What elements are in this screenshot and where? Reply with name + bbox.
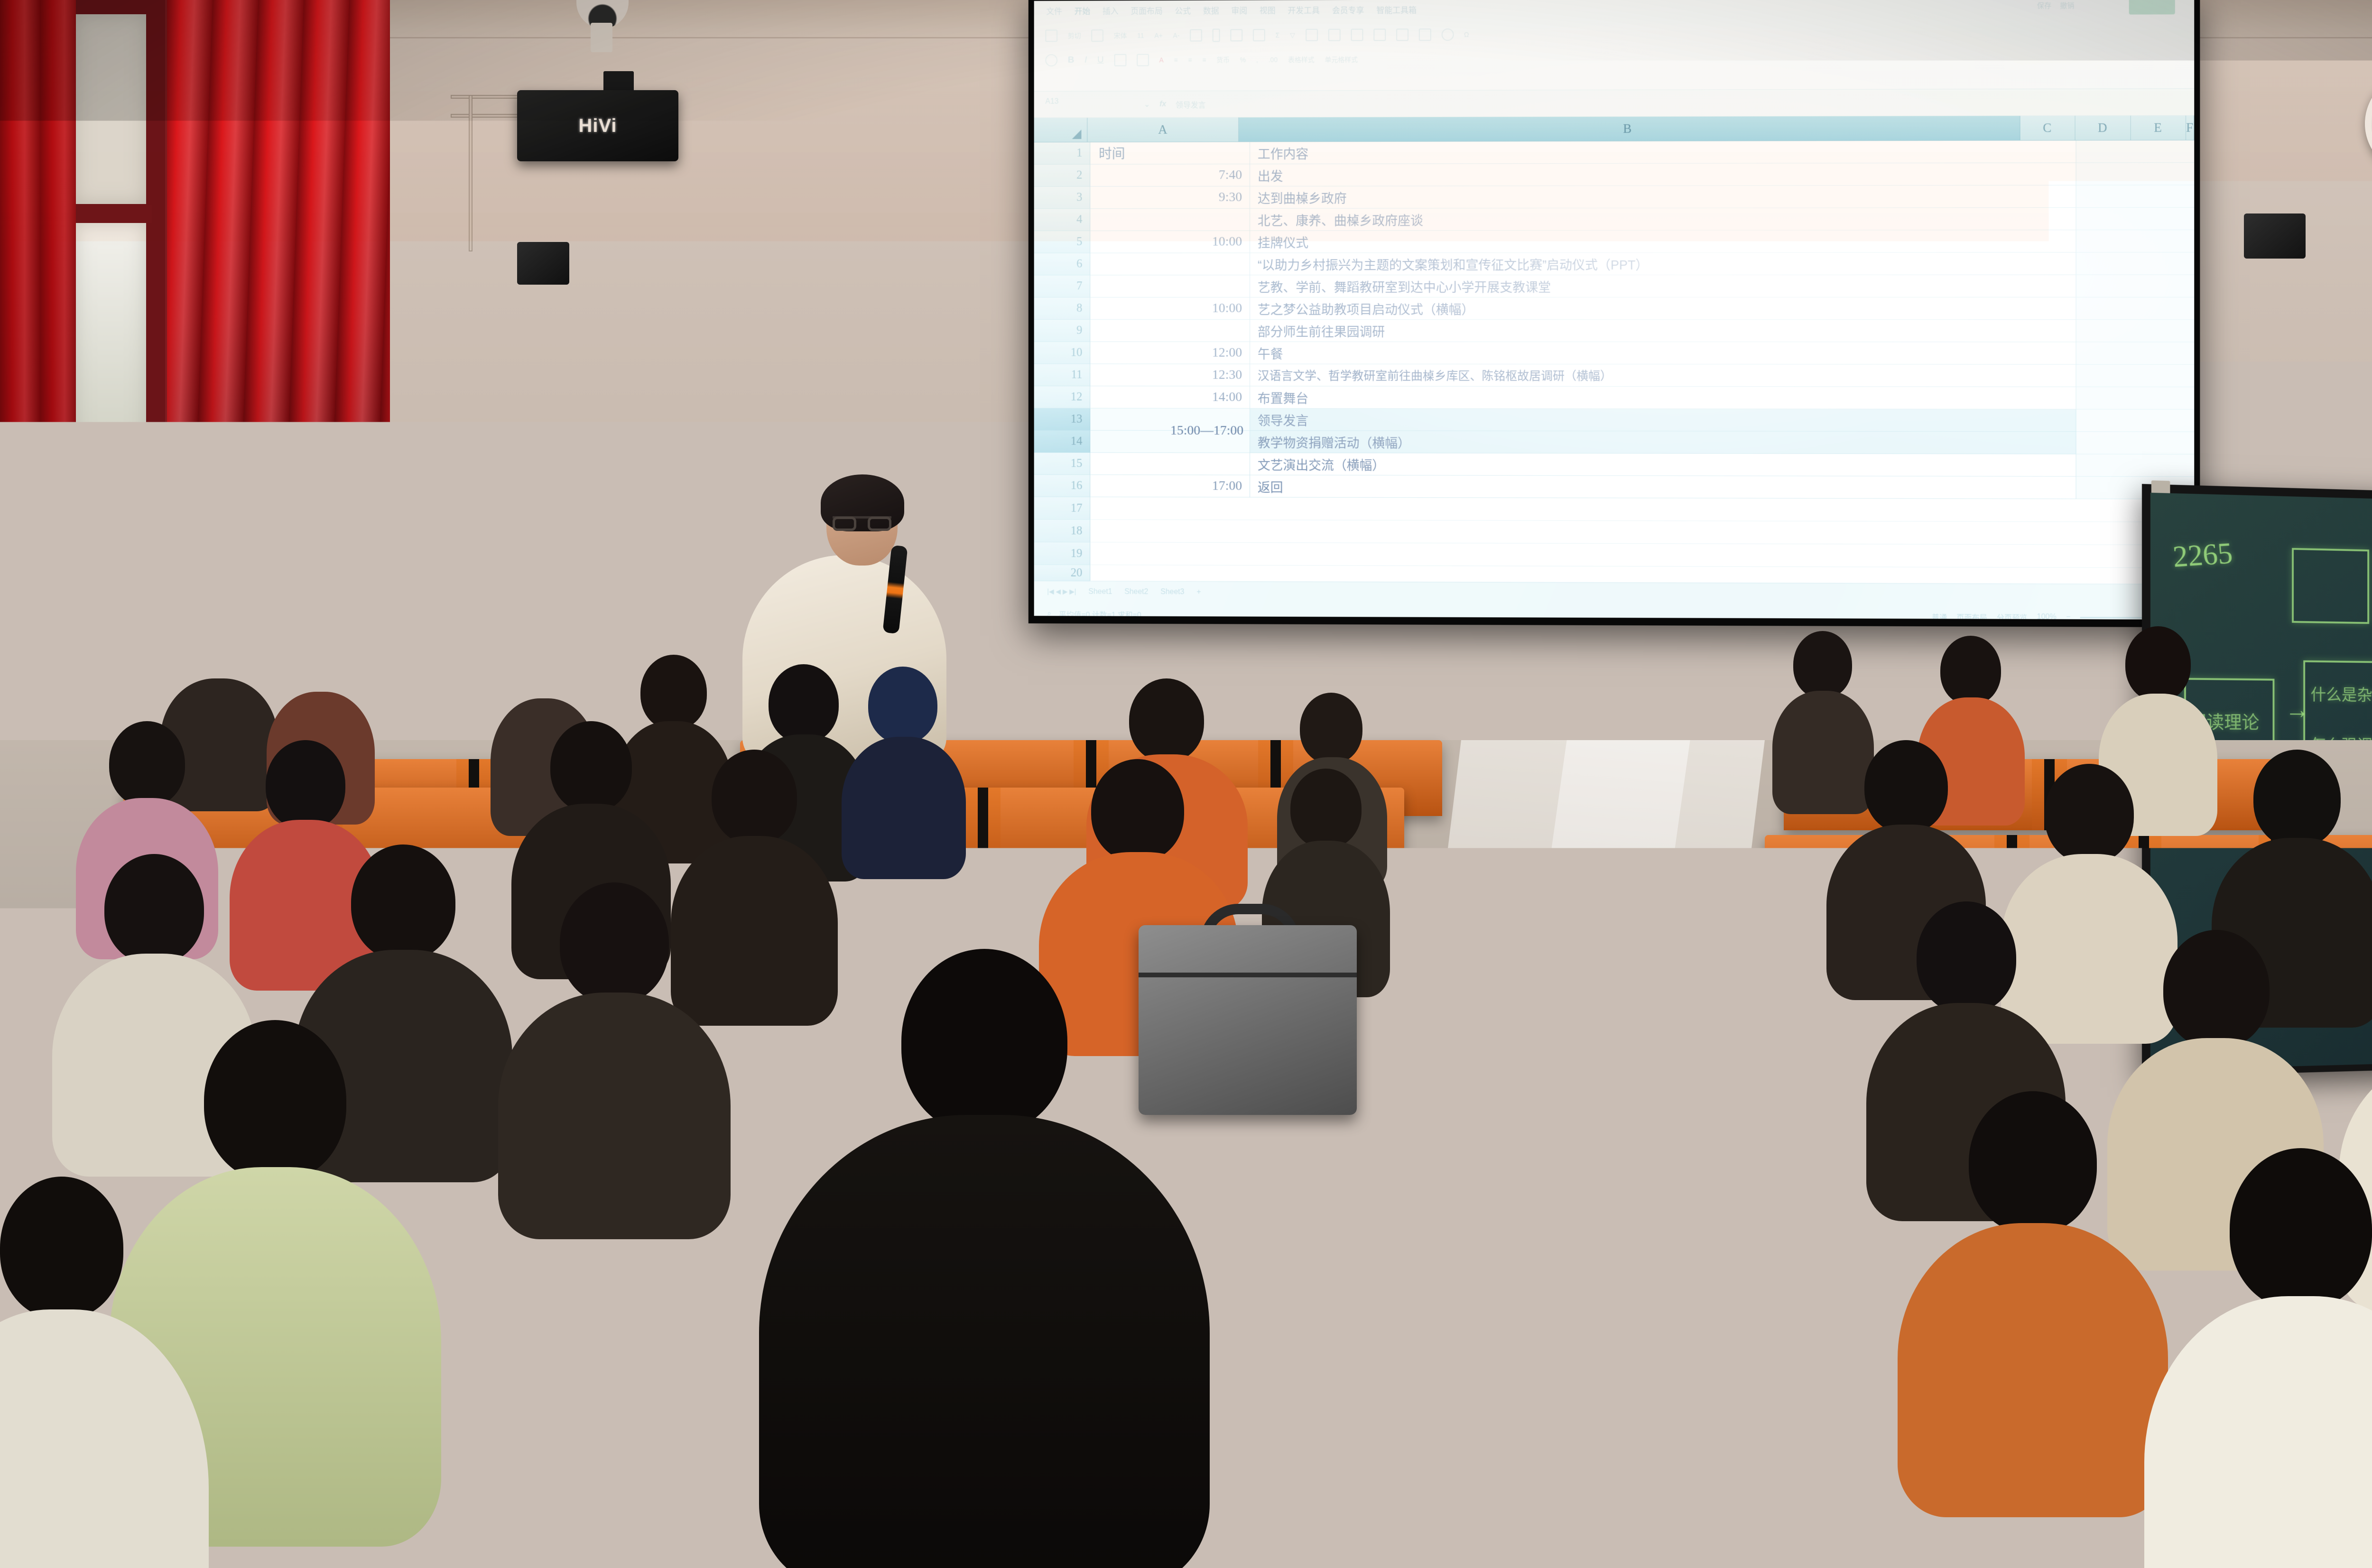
row-header[interactable]: 17: [1034, 497, 1091, 520]
chalk-numbers: 2265: [2171, 536, 2233, 575]
status-search-icon[interactable]: ⌕: [1047, 610, 1051, 618]
name-box[interactable]: A13: [1045, 97, 1134, 111]
ribbon-body: 剪切 宋体 11 A+ A- Σ ▽: [1034, 16, 2195, 92]
column-header-d[interactable]: D: [2075, 116, 2131, 140]
row-header[interactable]: 11: [1034, 364, 1091, 386]
cell-b15[interactable]: 文艺演出交流（横幅）: [1250, 453, 2076, 477]
student-head: [1940, 636, 2001, 705]
student-head: [2230, 1148, 2372, 1309]
student-head: [1917, 901, 2016, 1013]
student-head: [512, 636, 574, 707]
row-header[interactable]: 12: [1034, 386, 1091, 408]
cell-b4[interactable]: 北艺、康养、曲槕乡政府座谈: [1250, 208, 2076, 231]
student-head: [2253, 750, 2341, 847]
font-color-icon[interactable]: A: [1159, 56, 1163, 64]
projection-screen: 文件 开始 插入 页面布局 公式 数据 审阅 视图 开发工具 会员专享 智能工具…: [1028, 0, 2200, 627]
row-header-selected[interactable]: 14: [1034, 430, 1091, 453]
spreadsheet-grid[interactable]: 1 时间 工作内容 2 7:40 出发 3 9:30 达到曲槕乡政府 4 北艺: [1034, 140, 2195, 585]
chevron-down-icon[interactable]: ⌄: [1144, 100, 1150, 109]
table-row-selected[interactable]: 14 教学物资捐赠活动（横幅）: [1034, 430, 2195, 454]
student-head: [1969, 1091, 2097, 1234]
row-header[interactable]: 2: [1034, 165, 1091, 187]
cell-b12[interactable]: 布置舞台: [1250, 386, 2076, 409]
sheet-tab-2[interactable]: Sheet2: [1124, 587, 1148, 596]
cell-blank[interactable]: [2076, 163, 2195, 186]
corner-triangle-icon: [1072, 130, 1082, 139]
ribbon-tab-insert[interactable]: 插入: [1103, 4, 1119, 16]
row-header[interactable]: 20: [1034, 565, 1091, 581]
borders-icon[interactable]: [1114, 54, 1126, 66]
student-head: [901, 949, 1067, 1134]
column-header-a[interactable]: A: [1088, 118, 1239, 142]
sheet-tab-1[interactable]: Sheet1: [1088, 587, 1112, 596]
cell-blank[interactable]: [1090, 542, 2194, 568]
filter-icon[interactable]: ▽: [1290, 31, 1295, 39]
ribbon-tab-file[interactable]: 文件: [1046, 4, 1062, 16]
cell-a3[interactable]: 9:30: [1090, 186, 1250, 209]
ribbon-tab-home[interactable]: 开始: [1075, 4, 1091, 16]
sign-in-button[interactable]: [2129, 0, 2175, 15]
camera-bag: [1139, 925, 1357, 1115]
table-row[interactable]: 8 10:00 艺之梦公益助教项目启动仪式（横幅）: [1034, 297, 2195, 320]
cell-blank[interactable]: [2076, 320, 2195, 342]
cell-a6[interactable]: [1090, 253, 1250, 275]
student-head: [204, 1020, 346, 1181]
row-header[interactable]: 7: [1034, 275, 1091, 297]
cell-a5[interactable]: 10:00: [1090, 231, 1250, 253]
student-head: [1091, 759, 1184, 862]
cell-a7[interactable]: [1090, 275, 1250, 297]
column-header-b[interactable]: B: [1239, 116, 2020, 141]
student-head: [769, 664, 839, 743]
student-head: [1793, 631, 1852, 698]
freeze-panes-icon[interactable]: [1418, 28, 1431, 41]
comma-icon[interactable]: ,: [1256, 56, 1258, 64]
cell-blank[interactable]: [2076, 230, 2195, 252]
table-row[interactable]: 16 17:00 返回: [1034, 475, 2195, 500]
cell-blank[interactable]: [2076, 432, 2195, 455]
row-header[interactable]: 18: [1034, 520, 1091, 542]
table-row[interactable]: 7 艺教、学前、舞蹈教研室到达中心小学开展支教课堂: [1034, 275, 2195, 298]
cell-blank[interactable]: [2076, 275, 2195, 297]
cell-a4[interactable]: [1090, 209, 1250, 231]
window-pane-middle: [75, 223, 146, 697]
student-head: [1290, 769, 1362, 848]
cell-a1[interactable]: 时间: [1090, 142, 1250, 164]
sheet-tab-bar[interactable]: |◀ ◀ ▶ ▶| Sheet1 Sheet2 Sheet3 +: [1034, 581, 2195, 605]
zoom-out-icon[interactable]: −: [2066, 613, 2070, 620]
cell-b8[interactable]: 艺之梦公益助教项目启动仪式（横幅）: [1250, 297, 2076, 320]
row-header[interactable]: 5: [1034, 231, 1091, 253]
cell-a15[interactable]: [1090, 453, 1250, 475]
cell-blank[interactable]: [2076, 297, 2195, 320]
currency-icon[interactable]: 货币: [1216, 55, 1230, 65]
ribbon-tab-formula[interactable]: 公式: [1175, 4, 1191, 16]
cell-blank[interactable]: [2076, 185, 2195, 208]
cell-b9[interactable]: 部分师生前往果园调研: [1250, 320, 2076, 342]
cell-a16[interactable]: 17:00: [1090, 475, 1250, 497]
student-head: [2125, 626, 2191, 701]
camera-mount: [591, 23, 612, 52]
formula-bar[interactable]: A13 ⌄ fx 领导发言: [1034, 89, 2195, 118]
table-row[interactable]: 11 12:30 汉语言文学、哲学教研室前往曲槕乡库区、陈铭枢故居调研（横幅）: [1034, 364, 2195, 387]
table-row[interactable]: 5 10:00 挂牌仪式: [1034, 230, 2195, 253]
cell-b1[interactable]: 工作内容: [1250, 140, 2076, 164]
qa-save-icon[interactable]: 保存: [2037, 0, 2051, 10]
fill-icon[interactable]: [1396, 28, 1408, 41]
cell-a10[interactable]: 12:00: [1090, 342, 1250, 364]
cell-a12[interactable]: 14:00: [1090, 386, 1250, 408]
format-painter-icon[interactable]: [1091, 29, 1103, 42]
align-center-icon[interactable]: ≡: [1188, 56, 1192, 64]
student-head: [109, 721, 185, 807]
row-header[interactable]: 4: [1034, 209, 1091, 231]
sort-icon[interactable]: [1306, 29, 1318, 41]
ribbon-tab-data[interactable]: 数据: [1203, 4, 1219, 16]
ribbon-row-top: 剪切 宋体 11 A+ A- Σ ▽: [1045, 20, 2183, 48]
row-header[interactable]: 9: [1034, 320, 1091, 342]
student-head: [1129, 678, 1204, 762]
view-page-layout-button[interactable]: 页面布局: [1956, 611, 1987, 620]
column-header-row[interactable]: A B C D E F: [1034, 116, 2195, 143]
ribbon-tab-layout[interactable]: 页面布局: [1130, 4, 1162, 16]
curtain-left: [0, 0, 76, 769]
zoom-level-label: 100%: [2037, 613, 2057, 620]
row-header[interactable]: 8: [1034, 297, 1091, 320]
classroom-scene: HiVi HiVi 12 1 2 3 4 5 6 7 8 9 10 11: [0, 0, 2372, 1568]
cell-style-label[interactable]: 单元格样式: [1325, 55, 1358, 64]
student-head: [2045, 764, 2134, 863]
rows-cols-icon[interactable]: [1328, 29, 1340, 41]
student-head: [560, 882, 669, 1004]
align-right-icon[interactable]: ≡: [1202, 56, 1206, 64]
cell-a2[interactable]: 7:40: [1090, 164, 1250, 186]
student-body: [1898, 1223, 2168, 1517]
student-body: [1772, 691, 1874, 814]
cut-label[interactable]: 剪切: [1068, 31, 1081, 40]
format-icon[interactable]: [1373, 28, 1386, 41]
wrap-text-icon[interactable]: [1213, 28, 1220, 42]
font-name-label[interactable]: 宋体: [1114, 31, 1127, 40]
font-size-label[interactable]: 11: [1137, 32, 1144, 39]
projector-mount-right: [2244, 213, 2306, 259]
view-normal-button[interactable]: 普通: [1932, 611, 1947, 620]
table-row-selected[interactable]: 13 领导发言: [1034, 408, 2195, 432]
autosum-icon[interactable]: Σ: [1276, 31, 1280, 39]
column-header-f[interactable]: F: [2186, 116, 2194, 140]
cell-blank[interactable]: [2076, 454, 2195, 477]
copy-icon[interactable]: [1045, 54, 1057, 66]
student-head: [2163, 930, 2270, 1048]
cell-blank[interactable]: [2076, 208, 2195, 230]
ribbon-row-bottom: B I U A ≡ ≡ ≡ 货币 % , .00 表格样式 单元格样式: [1045, 45, 2183, 73]
ribbon-tab-toolbox[interactable]: 智能工具箱: [1376, 3, 1417, 15]
table-row[interactable]: 6 “以助力乡村振兴为主题的文案策划和宣传征文比赛”启动仪式（PPT）: [1034, 252, 2195, 275]
row-header[interactable]: 1: [1034, 142, 1091, 165]
formula-input[interactable]: 领导发言: [1176, 98, 1205, 110]
window-pane-top: [75, 14, 146, 204]
cell-blank[interactable]: [1090, 520, 2194, 545]
student-head: [640, 655, 707, 730]
ribbon-tab-member[interactable]: 会员专享: [1332, 3, 1364, 15]
row-header[interactable]: 19: [1034, 542, 1091, 565]
paste-icon[interactable]: [1045, 29, 1057, 42]
cabinet-label: [595, 508, 622, 541]
student-head: [289, 631, 350, 701]
ribbon-tab-view[interactable]: 视图: [1260, 4, 1276, 16]
fx-icon[interactable]: fx: [1159, 100, 1166, 109]
chalk-label-2: 什么是杂文学: [2311, 682, 2372, 705]
cell-a9[interactable]: [1090, 320, 1250, 342]
ribbon-tab-review[interactable]: 审阅: [1231, 4, 1247, 16]
student-body-black-hoodie: [759, 1115, 1210, 1568]
cell-blank[interactable]: [2076, 387, 2195, 409]
student-body: [2001, 854, 2177, 1044]
cell-blank[interactable]: [1090, 497, 2194, 522]
sheet-nav-icons[interactable]: |◀ ◀ ▶ ▶|: [1047, 588, 1076, 596]
cell-b2[interactable]: 出发: [1250, 163, 2076, 186]
student-body: [842, 737, 966, 879]
bold-icon[interactable]: B: [1068, 55, 1075, 65]
search-icon[interactable]: [1441, 28, 1454, 41]
projector-mount-left: [517, 242, 569, 285]
quick-access-toolbar[interactable]: 保存 撤销: [2037, 0, 2075, 10]
row-header[interactable]: 6: [1034, 253, 1091, 276]
chalk-box-blank: [2292, 548, 2369, 624]
status-text: 平均值=0 计数=1 求和=0: [1059, 608, 1141, 620]
student-body: [498, 993, 731, 1239]
table-style-label[interactable]: 表格样式: [1288, 55, 1315, 65]
student-head: [351, 844, 455, 960]
cell-a8[interactable]: 10:00: [1090, 297, 1250, 320]
cell-b6[interactable]: “以助力乡村振兴为主题的文案策划和宣传征文比赛”启动仪式（PPT）: [1250, 252, 2076, 275]
student-head: [185, 612, 251, 688]
ribbon-tab-devtools[interactable]: 开发工具: [1288, 3, 1320, 15]
student-body: [671, 836, 838, 1026]
view-page-break-button[interactable]: 分页预览: [1997, 612, 2028, 620]
bag-zipper: [1139, 973, 1357, 977]
cell-blank[interactable]: [2076, 342, 2195, 364]
goto-icon[interactable]: Ω: [1464, 31, 1469, 38]
fan-hub: [454, 616, 490, 651]
row-header-selected[interactable]: 13: [1034, 408, 1091, 431]
water-bottle: [712, 584, 728, 625]
student-head: [550, 721, 632, 812]
select-all-corner[interactable]: [1034, 118, 1088, 142]
percent-icon[interactable]: %: [1240, 56, 1246, 64]
ribbon: 文件 开始 插入 页面布局 公式 数据 审阅 视图 开发工具 会员专享 智能工具…: [1034, 0, 2195, 92]
decrease-font-icon[interactable]: A-: [1173, 32, 1180, 39]
align-left-icon[interactable]: ≡: [1174, 56, 1178, 64]
italic-icon[interactable]: I: [1084, 55, 1087, 65]
speaker-left: HiVi: [517, 90, 678, 161]
cell-blank[interactable]: [2076, 252, 2195, 275]
increase-font-icon[interactable]: A+: [1154, 32, 1162, 39]
row-header[interactable]: 10: [1034, 342, 1091, 364]
row-header[interactable]: 3: [1034, 186, 1091, 209]
student-head: [0, 1177, 123, 1319]
student-head: [712, 750, 797, 844]
cell-b3[interactable]: 达到曲槕乡政府: [1250, 186, 2076, 209]
window-mullion: [71, 205, 152, 223]
sheet-tab-3[interactable]: Sheet3: [1160, 588, 1184, 596]
student-head: [104, 854, 204, 964]
cell-b16[interactable]: 返回: [1250, 475, 2076, 499]
conditional-format-icon[interactable]: [1253, 29, 1265, 41]
cell-blank[interactable]: [2076, 409, 2195, 432]
cell-b11[interactable]: 汉语言文学、哲学教研室前往曲槕乡库区、陈铭枢故居调研（横幅）: [1250, 364, 2076, 387]
increase-decimal-icon[interactable]: .00: [1269, 56, 1278, 64]
table-row[interactable]: 15 文艺演出交流（横幅）: [1034, 453, 2195, 477]
table-row-empty[interactable]: 18: [1034, 520, 2195, 545]
underline-icon[interactable]: U: [1097, 55, 1104, 65]
fill-color-icon[interactable]: [1137, 54, 1149, 66]
qa-undo-icon[interactable]: 撤销: [2060, 0, 2074, 10]
table-row[interactable]: 12 14:00 布置舞台: [1034, 386, 2195, 409]
table-row[interactable]: 3 9:30 达到曲槕乡政府: [1034, 185, 2195, 209]
cell-b7[interactable]: 艺教、学前、舞蹈教研室到达中心小学开展支教课堂: [1250, 275, 2076, 297]
student-head: [1300, 693, 1362, 764]
add-sheet-button[interactable]: +: [1196, 588, 1201, 596]
paper-stack: [612, 630, 721, 654]
cell-b10[interactable]: 午餐: [1250, 342, 2076, 365]
table-row[interactable]: 4 北艺、康养、曲槕乡政府座谈: [1034, 208, 2195, 231]
cell-a11[interactable]: 12:30: [1090, 364, 1250, 386]
column-header-e[interactable]: E: [2131, 116, 2186, 140]
table-row[interactable]: 2 7:40 出发: [1034, 163, 2195, 186]
cell-blank[interactable]: [2076, 140, 2195, 163]
student-head: [266, 740, 345, 829]
wall-conduit-vertical: [469, 95, 473, 251]
number-format-icon[interactable]: [1230, 29, 1242, 41]
cell-blank[interactable]: [2076, 365, 2195, 387]
worksheet-icon[interactable]: [1351, 29, 1363, 41]
table-row-empty[interactable]: 17: [1034, 497, 2195, 522]
row-header[interactable]: 15: [1034, 453, 1091, 475]
table-row[interactable]: 9 部分师生前往果园调研: [1034, 320, 2195, 343]
student-head: [1864, 740, 1948, 833]
speaker-brand-label: HiVi: [578, 115, 617, 137]
table-row[interactable]: 1 时间 工作内容: [1034, 140, 2195, 165]
cell-b5[interactable]: 挂牌仪式: [1250, 230, 2076, 253]
cell-b13[interactable]: 领导发言: [1250, 408, 2076, 432]
table-row[interactable]: 10 12:00 午餐: [1034, 342, 2195, 365]
glasses-icon: [833, 516, 891, 529]
row-header[interactable]: 16: [1034, 475, 1091, 497]
cell-a14[interactable]: [1090, 431, 1250, 453]
column-header-c[interactable]: C: [2020, 116, 2075, 140]
merge-center-icon[interactable]: [1190, 29, 1202, 42]
student-head-cap: [868, 667, 937, 743]
status-bar: ⌕ 平均值=0 计数=1 求和=0 普通 页面布局 分页预览 100% −: [1034, 602, 2195, 620]
cell-b14[interactable]: 教学物资捐赠活动（横幅）: [1250, 431, 2076, 454]
cell-a13[interactable]: [1090, 408, 1250, 431]
table-row-empty[interactable]: 19: [1034, 542, 2195, 568]
projected-spreadsheet-app[interactable]: 文件 开始 插入 页面布局 公式 数据 审阅 视图 开发工具 会员专享 智能工具…: [1034, 0, 2195, 620]
